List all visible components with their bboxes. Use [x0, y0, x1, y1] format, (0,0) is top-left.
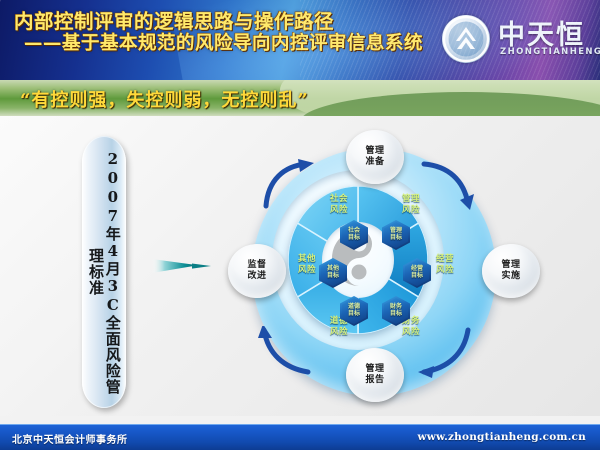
slide-footer: 北京中天恒会计师事务所 www.zhongtianheng.com.cn: [0, 424, 600, 450]
footer-company-name: 北京中天恒会计师事务所: [12, 431, 128, 446]
page-title-line1: 内部控制评审的逻辑思路与操作路径: [14, 10, 444, 33]
brand-logo: 中天恒 ZHONGTIANHENG: [442, 13, 592, 67]
mountain-circle-emblem-icon: [442, 15, 490, 63]
risk-management-cycle-diagram: 社会 风险 管理 风险 经营 风险 财务 风险 道德 风险 其他 风险 社会 目…: [236, 136, 512, 408]
objective-label-other: 其他 目标: [327, 266, 339, 280]
slide-header: 内部控制评审的逻辑思路与操作路径 ——基于基本规范的风险导向内控评审信息系统 中…: [0, 0, 600, 80]
cycle-arrow-top-right-icon: [416, 158, 476, 214]
slogan-text: “有控则强，失控则弱，无控则乱”: [20, 86, 309, 112]
cycle-arrow-bottom-right-icon: [416, 326, 476, 382]
risk-label-other: 其他 风险: [290, 254, 324, 275]
stage-label-preparation: 管理 准备: [365, 146, 384, 169]
stage-label-supervision: 监督 改进: [247, 260, 266, 283]
risk-label-social: 社会 风险: [322, 194, 356, 215]
objective-label-social: 社会 目标: [348, 228, 360, 242]
year-standard-text: 2007年4月3C全面风险管理标准: [87, 146, 121, 398]
risk-label-operation: 经营 风险: [428, 254, 462, 275]
stage-sphere-report[interactable]: 管理 报告: [346, 348, 404, 402]
title-block: 内部控制评审的逻辑思路与操作路径 ——基于基本规范的风险导向内控评审信息系统: [14, 10, 444, 55]
footer-website-link[interactable]: www.zhongtianheng.com.cn: [417, 431, 586, 443]
objective-label-financial: 财务 目标: [390, 304, 402, 318]
slide-canvas: 内部控制评审的逻辑思路与操作路径 ——基于基本规范的风险导向内控评审信息系统 中…: [0, 0, 600, 450]
slogan-banner: “有控则强，失控则弱，无控则乱”: [0, 80, 600, 116]
stage-sphere-preparation[interactable]: 管理 准备: [346, 130, 404, 184]
stage-sphere-supervision[interactable]: 监督 改进: [228, 244, 286, 298]
stage-label-report: 管理 报告: [365, 364, 384, 387]
objective-label-operation: 经营 目标: [411, 266, 423, 280]
page-title-line2: ——基于基本规范的风险导向内控评审信息系统: [14, 33, 444, 55]
logo-pinyin: ZHONGTIANHENG: [500, 47, 600, 57]
objective-label-ethics: 道德 目标: [348, 304, 360, 318]
cycle-arrow-bottom-left-icon: [258, 326, 318, 382]
objective-label-management: 管理 目标: [390, 228, 402, 242]
right-arrow-icon: [152, 253, 212, 279]
stage-label-implementation: 管理 实施: [501, 260, 520, 283]
cycle-arrow-top-left-icon: [258, 158, 318, 214]
stage-sphere-implementation[interactable]: 管理 实施: [482, 244, 540, 298]
year-standard-pill: 2007年4月3C全面风险管理标准: [82, 136, 126, 408]
